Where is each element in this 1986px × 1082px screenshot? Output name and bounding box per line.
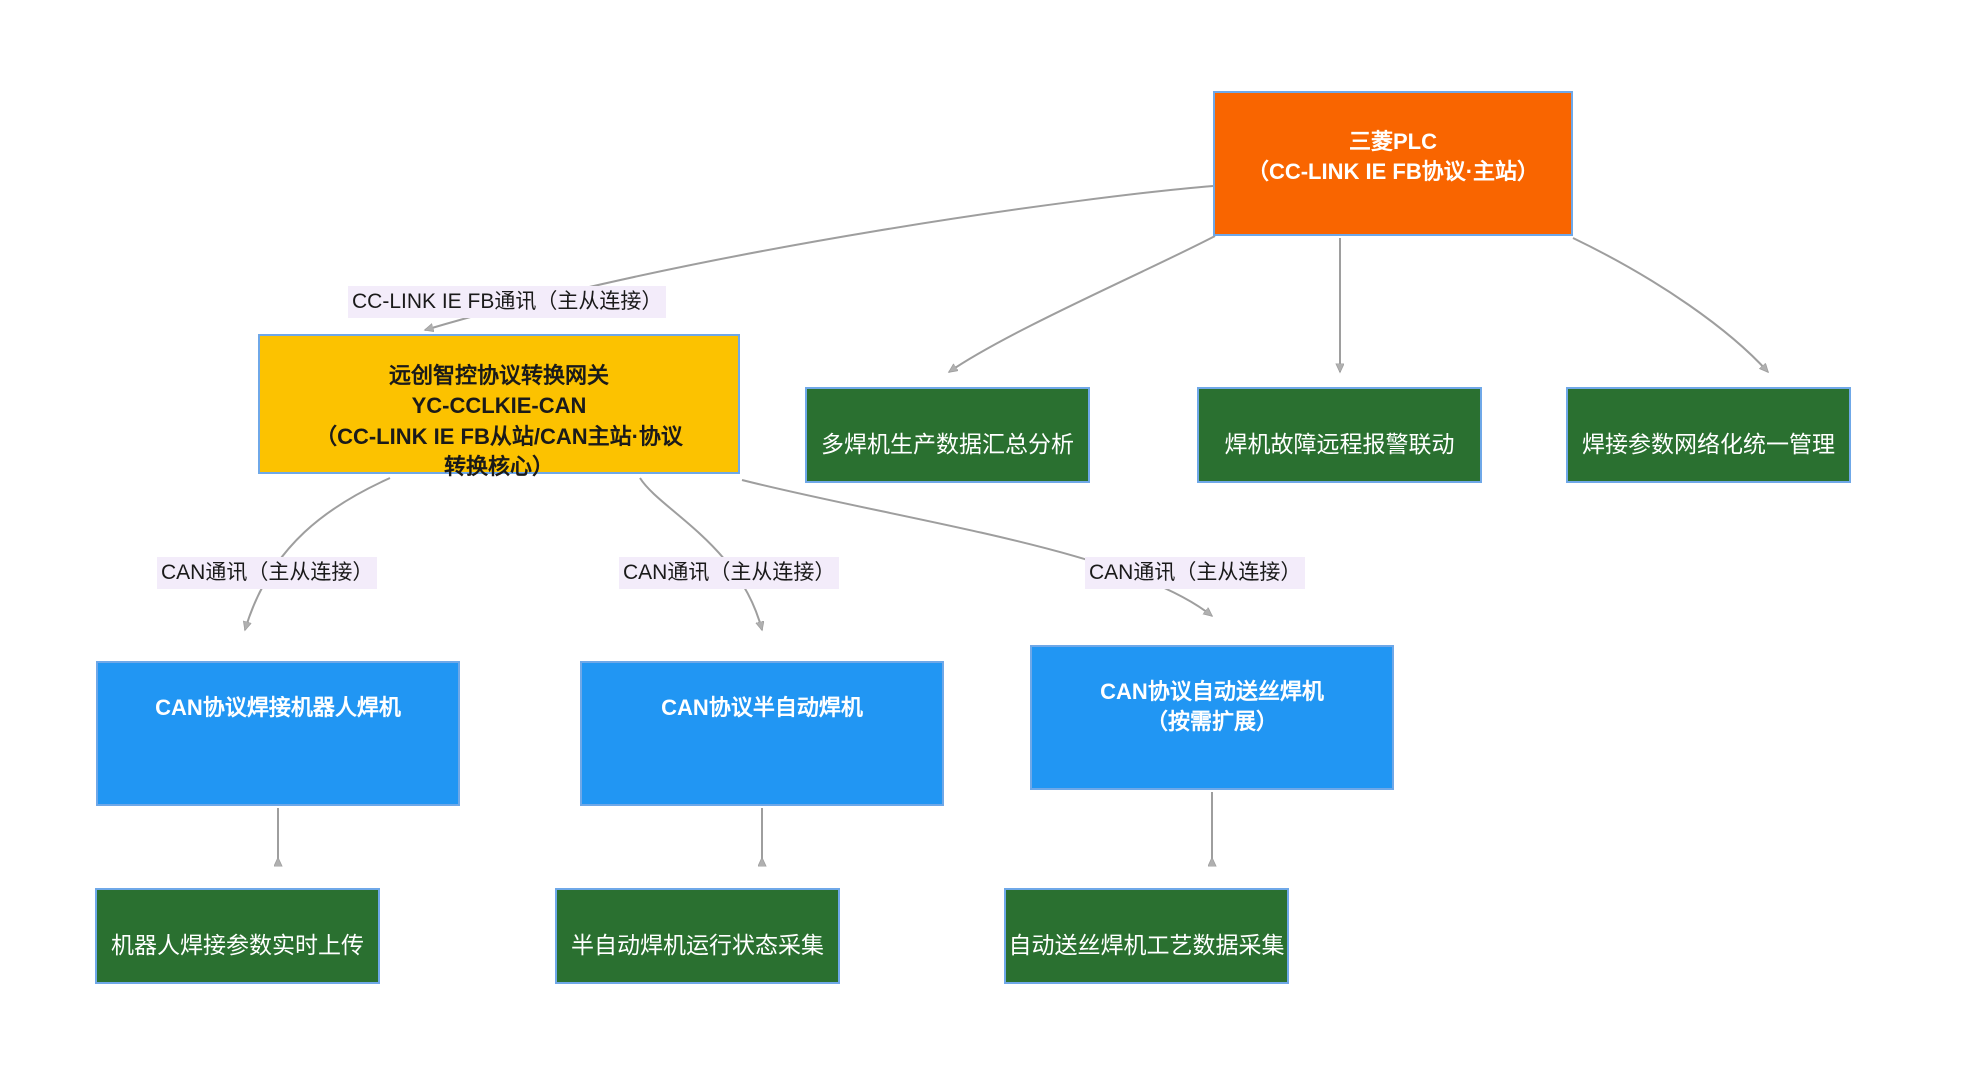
p-gw-semiauto — [640, 478, 762, 630]
node-plc-label: 三菱PLC （CC-LINK IE FB协议·主站） — [1215, 127, 1571, 188]
node-robot-welder-label: CAN协议焊接机器人焊机 — [98, 693, 458, 723]
edge-label-can-wirefeed: CAN通讯（主从连接） — [1085, 557, 1305, 589]
edge-label-can-semiauto: CAN通讯（主从连接） — [619, 557, 839, 589]
node-robot-welder[interactable]: CAN协议焊接机器人焊机 — [96, 661, 460, 806]
p-gw-wirefeed — [742, 480, 1212, 616]
node-param-network[interactable]: 焊接参数网络化统一管理 — [1566, 387, 1851, 483]
node-robot-data-label: 机器人焊接参数实时上传 — [97, 930, 378, 962]
p-plc-paramnet — [1573, 238, 1768, 372]
node-semiauto-data[interactable]: 半自动焊机运行状态采集 — [555, 888, 840, 984]
edge-label-cclink: CC-LINK IE FB通讯（主从连接） — [348, 286, 666, 318]
node-gateway[interactable]: 远创智控协议转换网关 YC-CCLKIE-CAN （CC-LINK IE FB从… — [258, 334, 740, 474]
node-alarm-label: 焊机故障远程报警联动 — [1199, 429, 1480, 461]
node-summary[interactable]: 多焊机生产数据汇总分析 — [805, 387, 1090, 483]
node-param-network-label: 焊接参数网络化统一管理 — [1568, 429, 1849, 461]
node-semiauto-data-label: 半自动焊机运行状态采集 — [557, 930, 838, 962]
node-robot-data[interactable]: 机器人焊接参数实时上传 — [95, 888, 380, 984]
p-gw-robot — [245, 478, 390, 630]
edge-label-can-robot: CAN通讯（主从连接） — [157, 557, 377, 589]
node-alarm[interactable]: 焊机故障远程报警联动 — [1197, 387, 1482, 483]
node-semiauto-welder-label: CAN协议半自动焊机 — [582, 693, 942, 723]
node-wirefeed-data-label: 自动送丝焊机工艺数据采集 — [1006, 930, 1287, 962]
node-gateway-label: 远创智控协议转换网关 YC-CCLKIE-CAN （CC-LINK IE FB从… — [260, 361, 738, 482]
node-plc[interactable]: 三菱PLC （CC-LINK IE FB协议·主站） — [1213, 91, 1573, 236]
node-wirefeed-welder-label: CAN协议自动送丝焊机 （按需扩展） — [1032, 677, 1392, 738]
node-wirefeed-welder[interactable]: CAN协议自动送丝焊机 （按需扩展） — [1030, 645, 1394, 790]
p-plc-summary — [949, 236, 1215, 372]
node-semiauto-welder[interactable]: CAN协议半自动焊机 — [580, 661, 944, 806]
diagram-canvas: 三菱PLC （CC-LINK IE FB协议·主站） 远创智控协议转换网关 YC… — [0, 0, 1986, 1082]
node-wirefeed-data[interactable]: 自动送丝焊机工艺数据采集 — [1004, 888, 1289, 984]
node-summary-label: 多焊机生产数据汇总分析 — [807, 429, 1088, 461]
